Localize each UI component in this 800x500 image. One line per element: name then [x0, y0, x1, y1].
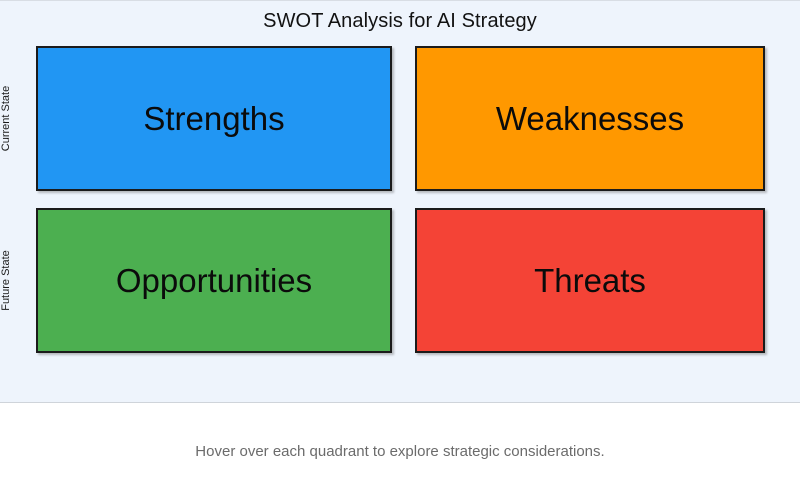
- quadrant-opportunities[interactable]: Opportunities: [36, 208, 392, 353]
- swot-matrix: Strengths Weaknesses Opportunities Threa…: [36, 46, 765, 353]
- quadrant-weaknesses[interactable]: Weaknesses: [415, 46, 765, 191]
- footer-caption: Hover over each quadrant to explore stra…: [195, 442, 604, 462]
- matrix-row-current-state: Strengths Weaknesses: [36, 46, 765, 191]
- page-title: SWOT Analysis for AI Strategy: [0, 7, 800, 35]
- footer-bar: Hover over each quadrant to explore stra…: [0, 403, 800, 500]
- quadrant-threats[interactable]: Threats: [415, 208, 765, 353]
- quadrant-label-weaknesses: Weaknesses: [496, 101, 684, 137]
- row-label-current-state: Current State: [0, 46, 12, 191]
- matrix-row-future-state: Opportunities Threats: [36, 208, 765, 353]
- swot-matrix-panel: SWOT Analysis for AI Strategy Current St…: [0, 0, 800, 403]
- quadrant-strengths[interactable]: Strengths: [36, 46, 392, 191]
- quadrant-label-opportunities: Opportunities: [116, 263, 312, 299]
- swot-analysis-page: SWOT Analysis for AI Strategy Current St…: [0, 0, 800, 500]
- quadrant-label-strengths: Strengths: [143, 101, 284, 137]
- quadrant-label-threats: Threats: [534, 263, 646, 299]
- row-label-future-state: Future State: [0, 208, 12, 353]
